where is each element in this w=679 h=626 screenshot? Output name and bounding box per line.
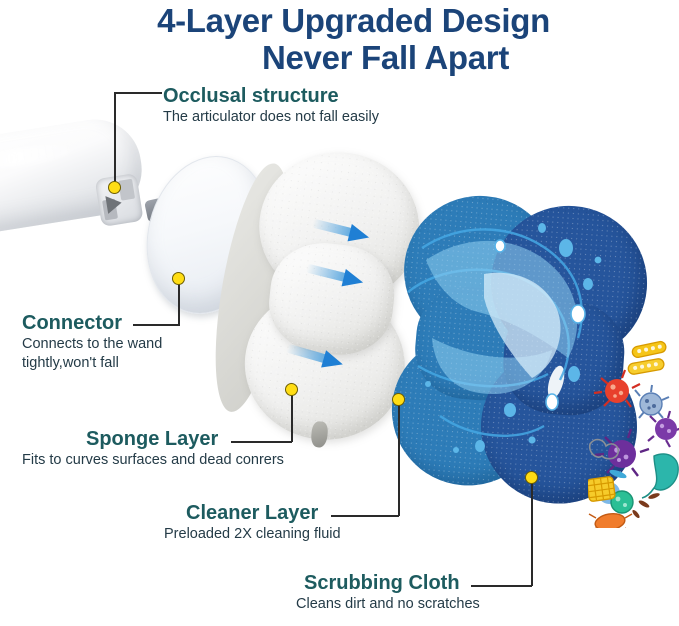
leader-sponge-vertical — [291, 389, 293, 442]
callout-cleaner-layer: Cleaner Layer Preloaded 2X cleaning flui… — [164, 502, 341, 544]
leader-occlusal-vertical — [114, 92, 116, 188]
sponge-center-hole — [310, 421, 329, 449]
callout-heading: Connector — [22, 312, 162, 335]
infographic-canvas: 4-Layer Upgraded Design Never Fall Apart — [0, 0, 679, 626]
leader-scrub-vertical — [531, 477, 533, 586]
callout-sponge-layer: Sponge Layer Fits to curves surfaces and… — [22, 428, 284, 470]
germ-teal-amoeba — [642, 454, 678, 498]
callout-subtext: Preloaded 2X cleaning fluid — [164, 525, 341, 544]
germ-purple-virus-1 — [648, 411, 679, 447]
germ-blue-virus — [635, 385, 669, 418]
leader-occlusal-horizontal — [114, 92, 162, 94]
marker-dot-cleaner[interactable] — [392, 393, 405, 406]
leader-cleaner-vertical — [398, 399, 400, 516]
leader-connector-vertical — [178, 278, 180, 326]
germ-red-virus — [594, 370, 640, 407]
callout-connector: Connector Connects to the wand tightly,w… — [22, 312, 162, 373]
wand-highlight — [0, 140, 79, 173]
marker-dot-occlusal[interactable] — [108, 181, 121, 194]
title-line-1: 4-Layer Upgraded Design — [0, 2, 679, 39]
callout-occlusal-structure: Occlusal structure The articulator does … — [163, 85, 379, 127]
wand-socket — [95, 173, 144, 227]
germ-yellow-rod-1 — [631, 341, 667, 359]
page-title: 4-Layer Upgraded Design Never Fall Apart — [0, 2, 679, 76]
germ-yellow-rod-2 — [627, 358, 664, 375]
marker-dot-connector[interactable] — [172, 272, 185, 285]
callout-subtext: The articulator does not fall easily — [163, 108, 379, 127]
title-line-2: Never Fall Apart — [0, 39, 679, 76]
callout-heading: Sponge Layer — [22, 428, 284, 451]
germ-orange-bacterium — [589, 512, 632, 528]
wand-tip — [86, 156, 152, 241]
callout-subtext: Fits to curves surfaces and dead conrers — [22, 451, 284, 470]
marker-dot-scrub[interactable] — [525, 471, 538, 484]
germ-yellow-block — [588, 476, 615, 501]
leader-cleaner-horizontal — [331, 515, 399, 517]
callout-heading: Cleaner Layer — [164, 502, 341, 525]
callout-subtext-line-2: tightly,won't fall — [22, 354, 162, 373]
germ-purple-virus-2 — [595, 429, 649, 476]
leader-scrub-horizontal — [471, 585, 532, 587]
germs-illustration — [588, 338, 679, 528]
callout-subtext: Cleans dirt and no scratches — [296, 595, 480, 614]
callout-subtext-line-1: Connects to the wand — [22, 335, 162, 354]
socket-latch-icon — [105, 194, 123, 214]
callout-heading: Occlusal structure — [163, 85, 379, 108]
marker-dot-sponge[interactable] — [285, 383, 298, 396]
callout-heading: Scrubbing Cloth — [296, 572, 480, 595]
callout-scrubbing-cloth: Scrubbing Cloth Cleans dirt and no scrat… — [296, 572, 480, 614]
